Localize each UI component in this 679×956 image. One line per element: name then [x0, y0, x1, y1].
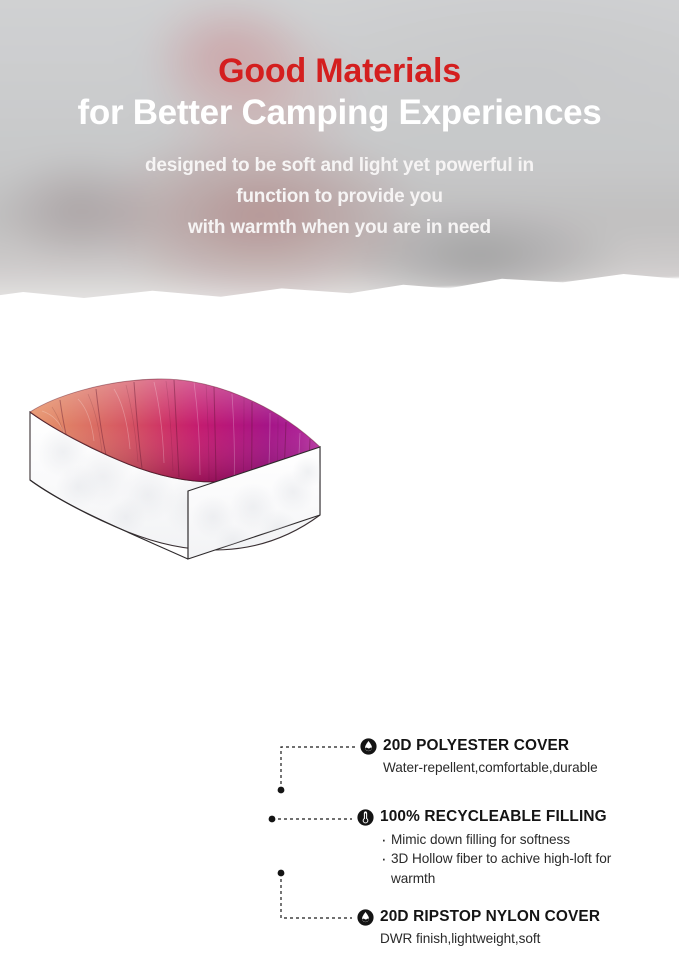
callout-3-title: 20D RIPSTOP NYLON COVER	[380, 908, 600, 926]
callout-1-description: Water-repellent,comfortable,durable	[383, 760, 598, 775]
subheadline-line-3: with warmth when you are in need	[0, 213, 679, 244]
subheadline-line-1: designed to be soft and light yet powerf…	[0, 151, 679, 182]
connector-dot-3	[278, 870, 285, 877]
water-drop-badge-icon	[360, 738, 377, 755]
callout-2-header: 100% RECYCLEABLE FILLING	[357, 808, 652, 826]
connector-dot-1	[278, 787, 285, 794]
hero-bottom-fade	[0, 300, 679, 345]
subheadline-line-2: function to provide you	[0, 182, 679, 213]
callout-2-bullet-list: Mimic down filling for softness 3D Hollo…	[380, 830, 652, 888]
callout-1-title: 20D POLYESTER COVER	[383, 737, 569, 755]
callout-1-header: 20D POLYESTER COVER	[360, 737, 598, 755]
sleeping-bag-cutaway-illustration	[8, 367, 348, 572]
headline-secondary: for Better Camping Experiences	[0, 94, 679, 132]
callout-polyester-cover[interactable]: 20D POLYESTER COVER Water-repellent,comf…	[360, 737, 598, 775]
callout-2-title: 100% RECYCLEABLE FILLING	[380, 808, 607, 826]
connector-line-3	[281, 873, 352, 918]
callout-2-bullet-1: Mimic down filling for softness	[380, 830, 652, 849]
connector-dot-2	[269, 816, 276, 823]
water-drop-badge-icon	[357, 909, 374, 926]
callout-3-header: 20D RIPSTOP NYLON COVER	[357, 908, 600, 926]
hero-banner: Good Materials for Better Camping Experi…	[0, 0, 679, 345]
callout-2-bullet-2: 3D Hollow fiber to achive high-loft for …	[380, 849, 652, 888]
headline-primary: Good Materials	[0, 54, 679, 90]
product-feature-section: 20D POLYESTER COVER Water-repellent,comf…	[0, 345, 679, 611]
callout-recycleable-filling[interactable]: 100% RECYCLEABLE FILLING Mimic down fill…	[357, 808, 652, 888]
connector-line-1	[281, 747, 357, 790]
hero-text-block: Good Materials for Better Camping Experi…	[0, 0, 679, 244]
callout-ripstop-nylon-cover[interactable]: 20D RIPSTOP NYLON COVER DWR finish,light…	[357, 908, 600, 946]
hero-subheadline: designed to be soft and light yet powerf…	[0, 151, 679, 243]
thermometer-feather-badge-icon	[357, 809, 374, 826]
callout-3-description: DWR finish,lightweight,soft	[380, 931, 600, 946]
